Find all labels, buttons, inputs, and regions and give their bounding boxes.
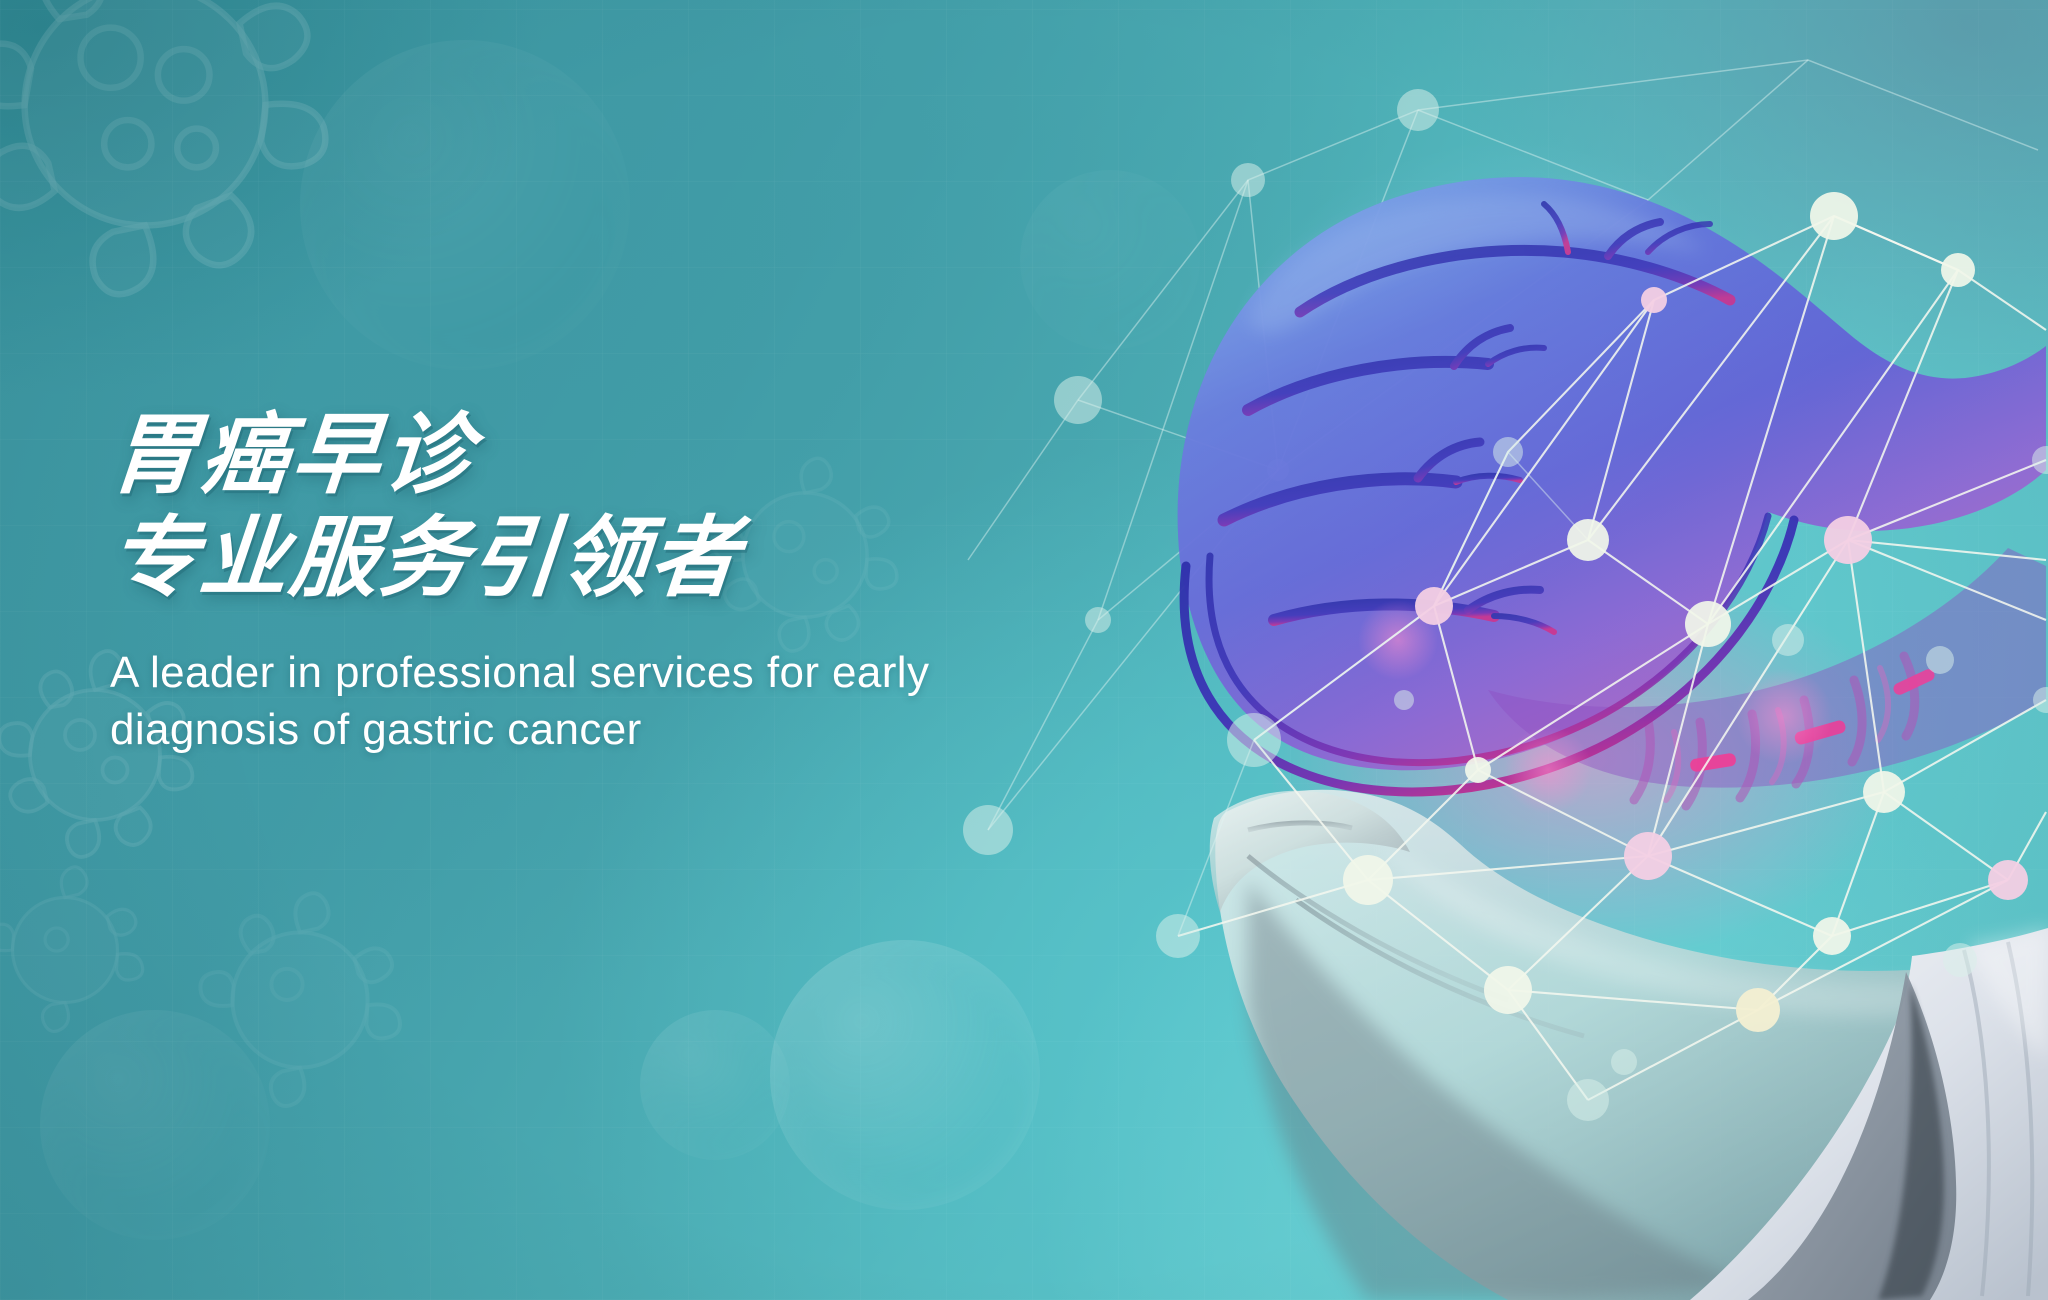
- subtitle-line-2: diagnosis of gastric cancer: [110, 701, 1110, 758]
- subtitle-block: A leader in professional services for ea…: [110, 644, 1110, 758]
- headline-line-1: 胃癌早诊: [105, 404, 1164, 507]
- promo-banner: 胃癌早诊 专业服务引领者 A leader in professional se…: [0, 0, 2048, 1300]
- subtitle-line-1: A leader in professional services for ea…: [110, 644, 1110, 701]
- stomach-illustration: [1178, 177, 2046, 814]
- headline-line-2: 专业服务引领者: [105, 507, 1164, 610]
- headline-block: 胃癌早诊 专业服务引领者 A leader in professional se…: [110, 404, 1160, 758]
